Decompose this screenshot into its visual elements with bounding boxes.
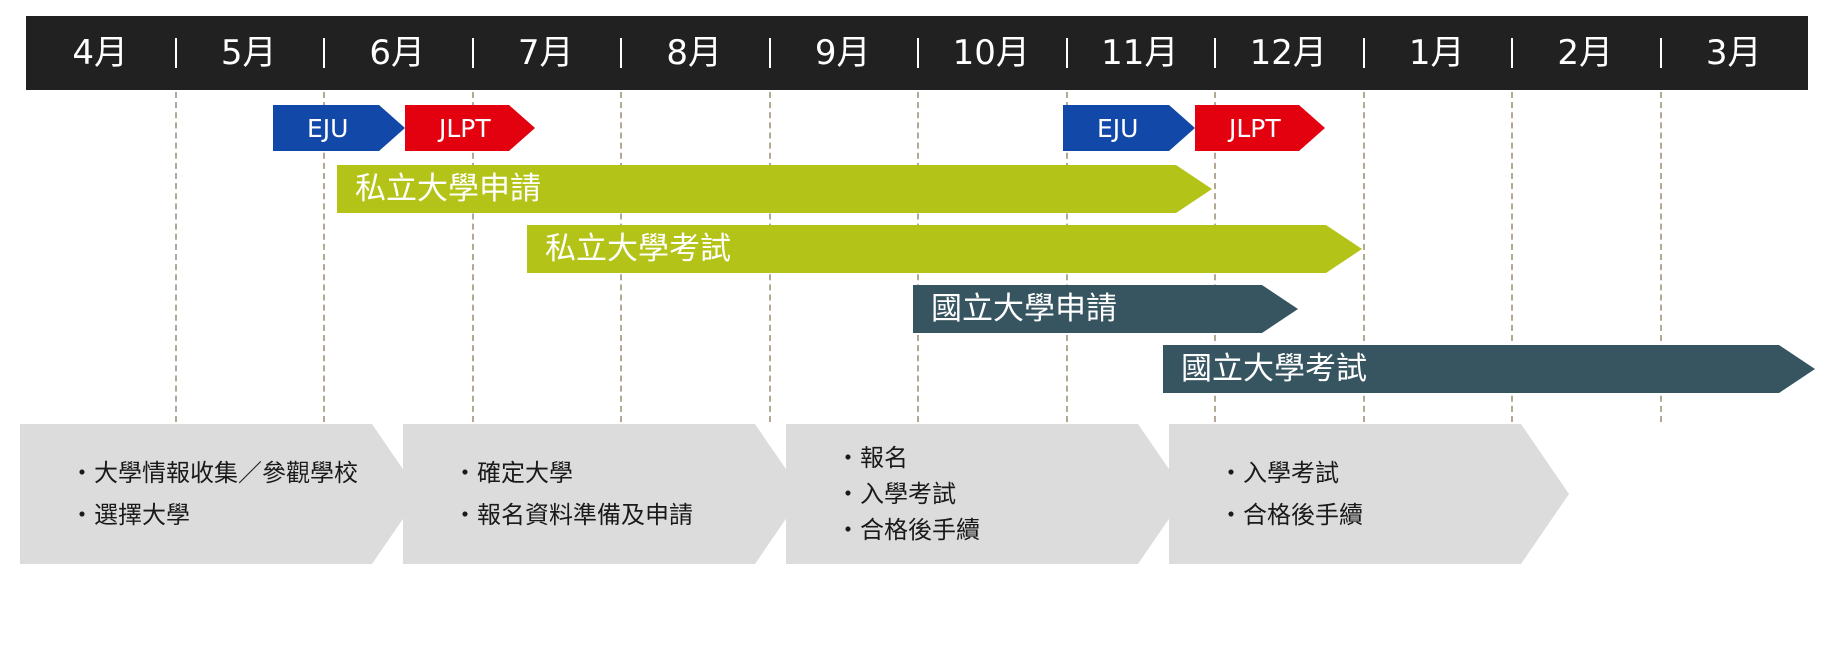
phase-line: ・大學情報收集／參觀學校 bbox=[70, 461, 420, 485]
phase-boxes-layer: ・大學情報收集／參觀學校 ・選擇大學 ・確定大學 ・報名資料準備及申請 ・報名 … bbox=[0, 0, 1833, 667]
phase-box-1[interactable]: ・大學情報收集／參觀學校 ・選擇大學 bbox=[20, 424, 420, 564]
phase-line: ・入學考試 bbox=[1219, 461, 1569, 485]
phase-box-4[interactable]: ・入學考試 ・合格後手續 bbox=[1169, 424, 1569, 564]
phase-line: ・合格後手續 bbox=[836, 518, 1186, 542]
timeline-diagram: 4月5月6月7月8月9月10月11月12月1月2月3月 EJU JLPT EJU… bbox=[0, 0, 1833, 667]
phase-line: ・報名 bbox=[836, 446, 1186, 470]
phase-box-2[interactable]: ・確定大學 ・報名資料準備及申請 bbox=[403, 424, 803, 564]
phase-line: ・報名資料準備及申請 bbox=[453, 503, 803, 527]
phase-box-3[interactable]: ・報名 ・入學考試 ・合格後手續 bbox=[786, 424, 1186, 564]
phase-line: ・確定大學 bbox=[453, 461, 803, 485]
phase-line: ・合格後手續 bbox=[1219, 503, 1569, 527]
phase-line: ・選擇大學 bbox=[70, 503, 420, 527]
phase-line: ・入學考試 bbox=[836, 482, 1186, 506]
